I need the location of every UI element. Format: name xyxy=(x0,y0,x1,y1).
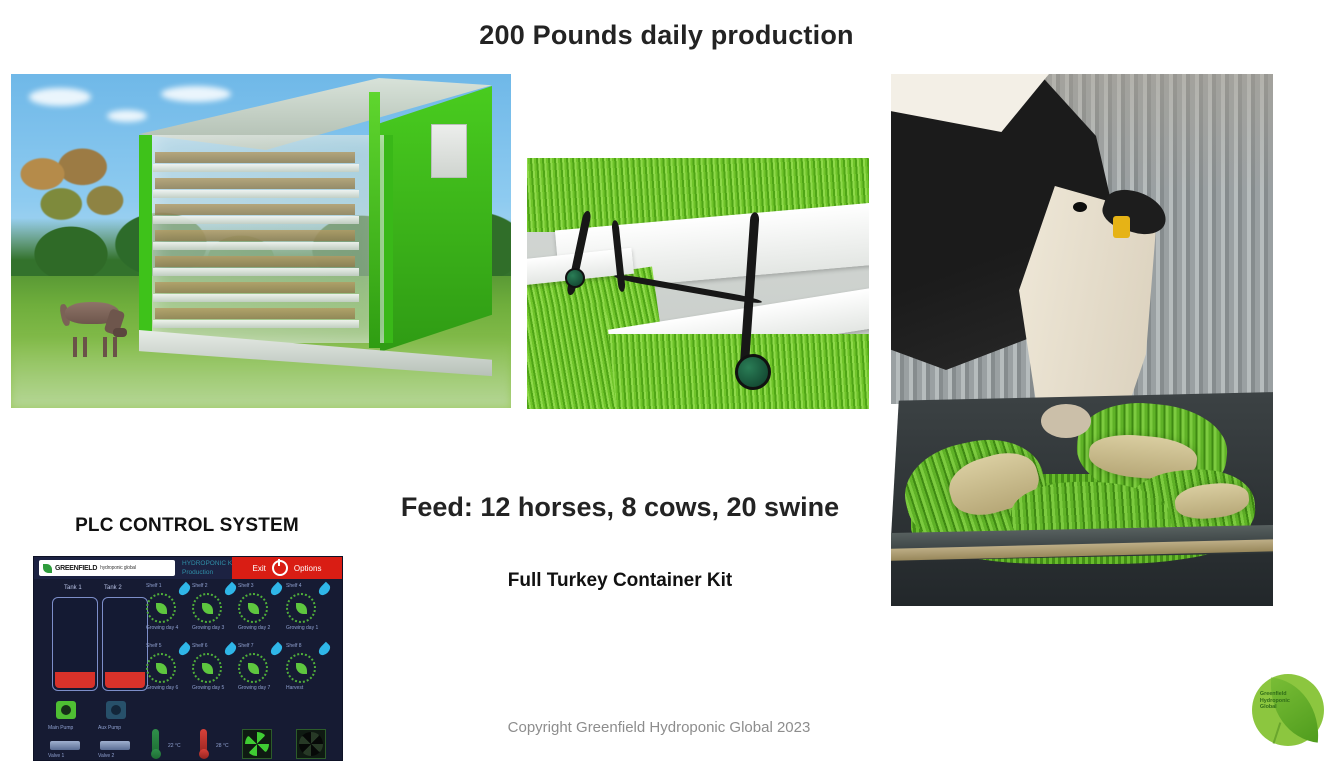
plc-control-screen-image: GREENFIELD hydroponic global HYDROPONIC … xyxy=(33,556,343,761)
leaf-icon xyxy=(296,603,307,614)
fan-icon[interactable] xyxy=(242,729,272,759)
gauge-label: Shelf 6 xyxy=(192,643,208,649)
shelf-gauge[interactable] xyxy=(192,653,222,683)
plc-brand-logo: GREENFIELD hydroponic global xyxy=(39,560,175,576)
sensor-value: 22 °C xyxy=(168,743,181,749)
grow-shelves-image xyxy=(527,158,869,409)
valve-icon[interactable] xyxy=(100,741,130,750)
cloud-shape xyxy=(29,88,91,106)
plc-header-title: HYDROPONIC KIT xyxy=(182,559,238,568)
gauge-info: Growing day 7 xyxy=(238,685,270,691)
water-drop-icon xyxy=(223,582,239,598)
cow-muzzle xyxy=(1041,404,1091,438)
logo-line-3: Global xyxy=(1260,704,1293,710)
tank-level-gauge xyxy=(52,597,98,691)
horse-leg xyxy=(73,337,77,357)
container-control-box xyxy=(431,124,467,178)
horse-leg xyxy=(113,337,117,357)
horse-leg xyxy=(103,337,107,357)
slide-canvas: 200 Pounds daily production xyxy=(0,0,1333,759)
plc-section-label: PLC CONTROL SYSTEM xyxy=(0,515,374,537)
gauge-info: Growing day 3 xyxy=(192,625,224,631)
cow-ear-tag xyxy=(1113,216,1130,238)
pump-icon[interactable] xyxy=(56,701,76,719)
gauge-info: Growing day 1 xyxy=(286,625,318,631)
gauge-label: Shelf 8 xyxy=(286,643,302,649)
leaf-icon xyxy=(296,663,307,674)
shelf-gauge[interactable] xyxy=(192,593,222,623)
plc-options-button[interactable]: Options xyxy=(294,564,322,573)
growing-tray xyxy=(155,282,355,293)
gauge-info: Growing day 5 xyxy=(192,685,224,691)
leaf-icon xyxy=(43,564,52,573)
water-drop-icon xyxy=(269,582,285,598)
leaf-icon xyxy=(202,663,213,674)
growing-tray xyxy=(155,256,355,267)
shelf-gauge[interactable] xyxy=(146,593,176,623)
page-title: 200 Pounds daily production xyxy=(0,20,1333,51)
valve-icon[interactable] xyxy=(50,741,80,750)
pump-label: Aux Pump xyxy=(98,725,121,731)
gauge-info: Growing day 2 xyxy=(238,625,270,631)
tank-fill xyxy=(105,672,145,688)
water-drop-icon xyxy=(223,642,239,658)
growing-tray xyxy=(155,204,355,215)
thermometer-icon xyxy=(152,729,159,755)
pump-icon[interactable] xyxy=(106,701,126,719)
gauge-info: Growing day 4 xyxy=(146,625,178,631)
logo-text-block: Greenfield Hydroponic Global xyxy=(1260,691,1293,710)
greenfield-logo: Greenfield Hydroponic Global xyxy=(1252,674,1324,746)
gauge-info: Harvest xyxy=(286,685,303,691)
leaf-icon xyxy=(156,663,167,674)
shelf-gauge[interactable] xyxy=(238,653,268,683)
hydroponic-container-render-image xyxy=(11,74,511,408)
gauge-label: Shelf 1 xyxy=(146,583,162,589)
gauge-label: Shelf 2 xyxy=(192,583,208,589)
cow-eye xyxy=(1073,202,1087,212)
plc-brand-tagline: hydroponic global xyxy=(100,565,136,571)
kit-name-text: Full Turkey Container Kit xyxy=(330,570,910,592)
thermometer-icon xyxy=(200,729,207,755)
tank-label: Tank 2 xyxy=(104,585,122,591)
water-drop-icon xyxy=(177,642,193,658)
growing-shelf xyxy=(153,294,359,302)
pump-label: Main Pump xyxy=(48,725,73,731)
leaf-icon xyxy=(248,663,259,674)
plc-header-bar: GREENFIELD hydroponic global HYDROPONIC … xyxy=(34,557,342,579)
irrigation-valve xyxy=(565,268,585,288)
water-drop-icon xyxy=(317,582,333,598)
shelf-gauge[interactable] xyxy=(286,653,316,683)
cow-feeding-image xyxy=(891,74,1273,606)
power-icon[interactable] xyxy=(272,560,288,576)
fan-blades xyxy=(245,732,269,756)
growing-tray xyxy=(155,152,355,163)
wheatgrass-row xyxy=(527,304,616,409)
growing-shelf xyxy=(153,320,359,328)
plc-brand-name: GREENFIELD xyxy=(55,565,97,572)
plc-alert-bar[interactable]: Exit Options xyxy=(232,557,342,579)
shelf-gauge[interactable] xyxy=(146,653,176,683)
wheatgrass-row xyxy=(581,334,869,409)
growing-shelf xyxy=(153,268,359,276)
growing-shelf xyxy=(153,164,359,172)
growing-shelf xyxy=(153,190,359,198)
horse-head xyxy=(113,328,127,337)
growing-tray xyxy=(155,178,355,189)
leaf-icon xyxy=(202,603,213,614)
shelf-gauge[interactable] xyxy=(286,593,316,623)
irrigation-valve xyxy=(735,354,771,390)
gauge-label: Shelf 5 xyxy=(146,643,162,649)
sensor-value: 28 °C xyxy=(216,743,229,749)
horse-leg xyxy=(83,337,87,357)
plc-header-subtitle: Production xyxy=(182,568,213,577)
humidifier-icon[interactable] xyxy=(296,729,326,759)
growing-tray xyxy=(155,230,355,241)
plc-exit-button[interactable]: Exit xyxy=(253,564,266,573)
valve-label: Valve 1 xyxy=(48,753,64,759)
water-drop-icon xyxy=(177,582,193,598)
fan-blades xyxy=(299,732,323,756)
water-drop-icon xyxy=(317,642,333,658)
gauge-label: Shelf 4 xyxy=(286,583,302,589)
leaf-icon xyxy=(248,603,259,614)
tank-fill xyxy=(55,672,95,688)
gauge-info: Growing day 6 xyxy=(146,685,178,691)
growing-shelf xyxy=(153,242,359,250)
growing-tray xyxy=(155,308,355,319)
tank-label: Tank 1 xyxy=(64,585,82,591)
autumn-tree xyxy=(11,138,130,258)
growing-shelf xyxy=(153,216,359,224)
copyright-text: Copyright Greenfield Hydroponic Global 2… xyxy=(333,719,985,736)
fodder-container-unit xyxy=(139,78,494,378)
gauge-label: Shelf 7 xyxy=(238,643,254,649)
leaf-icon xyxy=(156,603,167,614)
shelf-gauge[interactable] xyxy=(238,593,268,623)
grazing-horse xyxy=(61,302,127,340)
plc-body: Tank 1 Tank 2 Main Pump Aux Pump Valve 1… xyxy=(34,579,342,760)
valve-label: Valve 2 xyxy=(98,753,114,759)
container-corner-post xyxy=(369,92,380,348)
water-drop-icon xyxy=(269,642,285,658)
tank-level-gauge xyxy=(102,597,148,691)
gauge-label: Shelf 3 xyxy=(238,583,254,589)
